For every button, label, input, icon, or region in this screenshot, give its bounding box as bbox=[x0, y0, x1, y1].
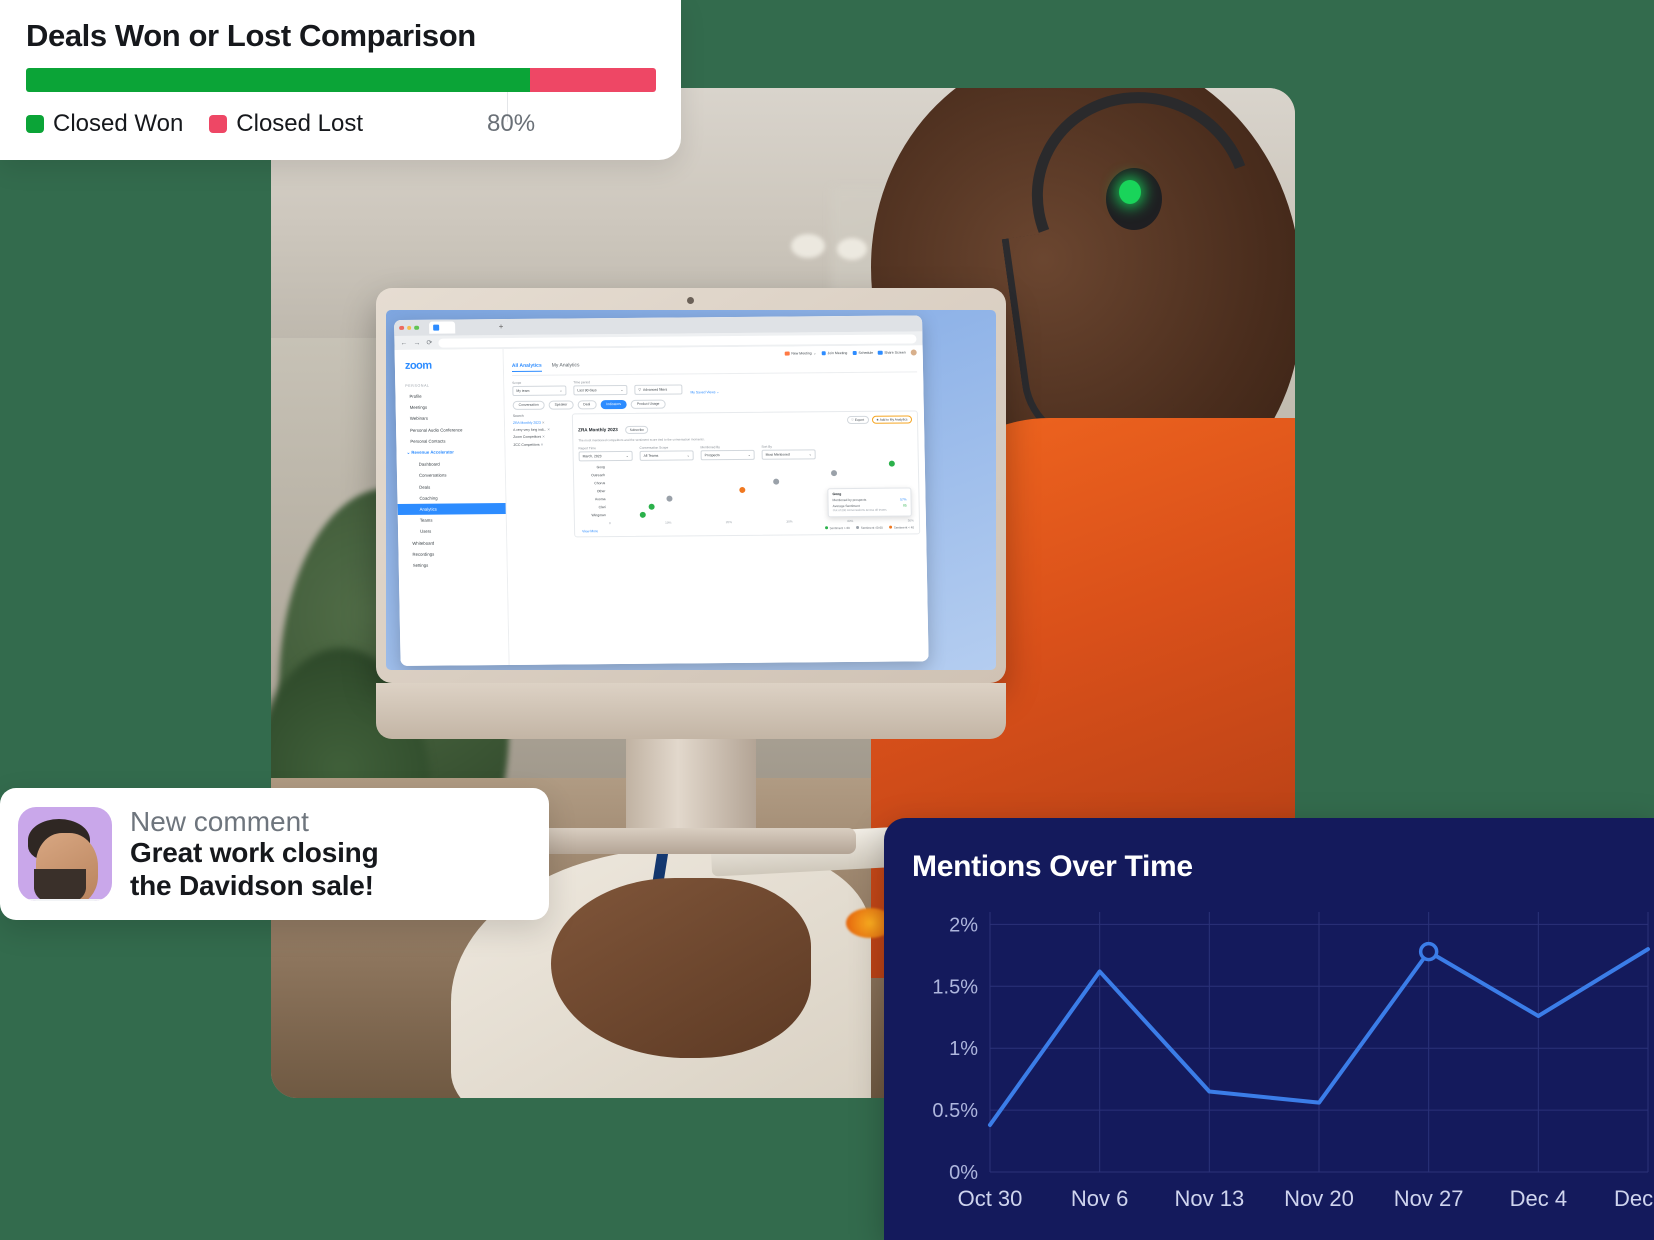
mentions-card-title: Mentions Over Time bbox=[884, 818, 1654, 884]
zoom-logo: zoom bbox=[395, 357, 503, 380]
back-icon[interactable]: ← bbox=[400, 339, 407, 346]
sidebar-item-personal-contacts[interactable]: Personal Contacts bbox=[396, 435, 504, 447]
bar-label: Other bbox=[579, 489, 608, 493]
close-window-icon[interactable] bbox=[399, 326, 404, 331]
monitor-stand-foot bbox=[526, 828, 856, 854]
report-title: ZRA Monthly 2023 bbox=[578, 427, 618, 432]
mentions-line-chart: 0%0.5%1%1.5%2%Oct 30Nov 6Nov 13Nov 20Nov… bbox=[912, 904, 1654, 1224]
tab-my-analytics[interactable]: My Analytics bbox=[552, 362, 580, 371]
deals-comparison-card: Deals Won or Lost Comparison Closed Won … bbox=[0, 0, 681, 160]
closed-won-segment bbox=[26, 68, 530, 92]
y-axis-tick-label: 0% bbox=[949, 1162, 978, 1184]
search-column: Search ZRA Monthly 2023 ✕ A very very lo… bbox=[513, 413, 574, 538]
avatar bbox=[18, 807, 112, 901]
comment-body-line1: Great work closing bbox=[130, 837, 378, 869]
axis-tick: 50% bbox=[908, 518, 914, 522]
sort-by-filter: Sort By Most Mentioned⌄ bbox=[761, 444, 815, 459]
x-axis-tick-label: Nov 27 bbox=[1394, 1186, 1464, 1211]
x-axis-tick-label: Nov 20 bbox=[1284, 1186, 1354, 1211]
chevron-down-icon: ⌄ bbox=[406, 450, 410, 455]
sentiment-neutral-icon bbox=[831, 470, 837, 476]
sidebar-item-recordings[interactable]: Recordings bbox=[398, 548, 506, 560]
close-icon[interactable]: ✕ bbox=[547, 428, 550, 432]
search-chip[interactable]: ZRA Monthly 2023 ✕ bbox=[513, 420, 567, 424]
sidebar-item-coaching[interactable]: Coaching bbox=[397, 492, 505, 504]
conversation-scope-filter: Conversation Scope All Teams⌄ bbox=[639, 445, 693, 460]
search-chip[interactable]: A very very long indi... ✕ bbox=[513, 428, 567, 432]
deals-card-title: Deals Won or Lost Comparison bbox=[0, 0, 681, 54]
closed-lost-swatch bbox=[209, 115, 227, 133]
legend-item: Sentiment > 60 bbox=[825, 526, 850, 530]
time-period-label: Time period bbox=[573, 379, 627, 383]
y-axis-tick-label: 0.5% bbox=[932, 1100, 978, 1122]
comment-body-line2: the Davidson sale! bbox=[130, 870, 378, 902]
x-axis-tick-label: Oct 30 bbox=[958, 1186, 1023, 1211]
x-axis-tick-label: Dec 4 bbox=[1510, 1186, 1567, 1211]
mentioned-by-filter: Mentioned By Prospects⌄ bbox=[700, 445, 754, 460]
new-comment-card[interactable]: New comment Great work closing the David… bbox=[0, 788, 549, 920]
search-label: Search bbox=[513, 413, 567, 417]
legend-item: Sentiment < 40 bbox=[889, 525, 914, 529]
avatar-shirt bbox=[20, 899, 112, 901]
bar-track bbox=[608, 470, 913, 478]
sidebar-item-users[interactable]: Users bbox=[398, 525, 506, 537]
y-axis-tick-label: 2% bbox=[949, 914, 978, 936]
y-axis-tick-label: 1% bbox=[949, 1038, 978, 1060]
chevron-down-icon: ⌄ bbox=[748, 453, 751, 457]
comment-kicker: New comment bbox=[130, 806, 378, 837]
sidebar-group-label: Revenue Accelerator bbox=[411, 450, 454, 455]
new-meeting-button[interactable]: New Meeting ⌄ bbox=[785, 351, 816, 356]
bar-label: Wingman bbox=[580, 513, 609, 517]
sentiment-neutral-icon bbox=[773, 478, 779, 484]
sidebar-item-deals[interactable]: Deals bbox=[397, 481, 505, 493]
x-axis-tick-label: Dec 11 bbox=[1614, 1186, 1654, 1211]
sidebar-item-teams[interactable]: Teams bbox=[398, 514, 506, 526]
saved-views-dropdown[interactable]: My Saved Views ⌄ bbox=[690, 390, 719, 394]
chevron-down-icon: ⌄ bbox=[559, 388, 562, 392]
report-time-filter: Report Time March, 2023⌄ bbox=[578, 446, 632, 461]
bar-track bbox=[608, 478, 913, 486]
subscribe-button[interactable]: Subscribe bbox=[625, 425, 648, 433]
report-time-select[interactable]: March, 2023⌄ bbox=[579, 451, 633, 461]
time-period-filter: Time period Last 90 days ⌄ bbox=[573, 379, 627, 394]
chevron-down-icon: ⌄ bbox=[626, 454, 629, 458]
mentions-over-time-card: Mentions Over Time 0%0.5%1%1.5%2%Oct 30N… bbox=[884, 818, 1654, 1240]
zoom-favicon bbox=[433, 325, 439, 331]
pill-speaker[interactable]: Speaker bbox=[549, 400, 574, 409]
sidebar-item-settings[interactable]: Settings bbox=[399, 559, 507, 571]
close-icon[interactable]: ✕ bbox=[541, 443, 544, 447]
sort-by-select[interactable]: Most Mentioned⌄ bbox=[762, 449, 816, 459]
closed-lost-segment bbox=[530, 68, 656, 92]
bar-chart-x-axis: 0 10% 20% 30% 40% 50% bbox=[609, 518, 914, 525]
axis-tick: 0 bbox=[609, 521, 611, 525]
data-point-marker bbox=[1421, 944, 1437, 960]
chevron-down-icon: ⌄ bbox=[687, 453, 690, 457]
chevron-down-icon: ⌄ bbox=[716, 390, 719, 394]
close-icon[interactable]: ✕ bbox=[542, 420, 545, 424]
calendar-icon bbox=[852, 351, 857, 356]
scope-label: Scope bbox=[512, 380, 566, 384]
conversation-scope-label: Conversation Scope bbox=[639, 445, 693, 449]
bar-tooltip: Gong Mentioned by prospects 57% Average … bbox=[827, 488, 912, 518]
sidebar-item-dashboard[interactable]: Dashboard bbox=[397, 458, 505, 470]
deals-percentage-label: 80% bbox=[487, 110, 535, 138]
bar-label: Gong bbox=[579, 465, 608, 469]
x-axis-tick-label: Nov 6 bbox=[1071, 1186, 1128, 1211]
sidebar-item-analytics[interactable]: Analytics bbox=[398, 503, 506, 515]
deals-progress-bar bbox=[26, 68, 656, 92]
share-screen-button[interactable]: Share Screen bbox=[878, 350, 906, 355]
bar-label: Clari bbox=[580, 505, 609, 509]
legend-label: Closed Lost bbox=[236, 110, 363, 138]
add-to-my-analytics-button[interactable]: ★ Add to My Analytics bbox=[872, 415, 913, 424]
page-background: + ← → ⟳ zoom PERSONAL bbox=[0, 0, 1654, 1240]
ceiling-light-icon bbox=[837, 238, 867, 260]
bar-label: Avoma bbox=[579, 497, 608, 501]
deals-legend: Closed Won Closed Lost bbox=[26, 110, 363, 138]
pill-conversation[interactable]: Conversation bbox=[513, 400, 545, 409]
report-description: The most mentioned competitors and the s… bbox=[578, 436, 912, 443]
view-more-link[interactable]: View More bbox=[582, 529, 598, 533]
chevron-down-icon: ⌄ bbox=[813, 351, 816, 355]
schedule-button[interactable]: Schedule bbox=[852, 351, 873, 356]
axis-tick: 30% bbox=[786, 519, 792, 523]
sentiment-positive-icon bbox=[648, 504, 654, 510]
mentioned-by-select[interactable]: Prospects⌄ bbox=[701, 450, 755, 460]
sentiment-positive-icon bbox=[888, 461, 894, 467]
monitor-chin bbox=[376, 683, 1006, 739]
sidebar-item-conversations[interactable]: Conversations bbox=[397, 469, 505, 481]
tooltip-title: Gong bbox=[832, 492, 906, 497]
sidebar-item-meetings[interactable]: Meetings bbox=[396, 401, 504, 413]
legend-closed-lost: Closed Lost bbox=[209, 110, 363, 138]
headset-led-indicator bbox=[1119, 180, 1141, 204]
new-tab-button[interactable]: + bbox=[499, 322, 504, 332]
avatar-beard bbox=[34, 869, 86, 901]
video-icon bbox=[785, 351, 790, 356]
report-actions: ♡ Export ★ Add to My Analytics bbox=[847, 415, 913, 424]
filter-icon: ▽ bbox=[638, 387, 641, 391]
sort-by-label: Sort By bbox=[761, 444, 815, 448]
bar-track bbox=[608, 462, 913, 470]
close-icon[interactable]: ✕ bbox=[542, 435, 545, 439]
closed-won-swatch bbox=[26, 115, 44, 133]
chevron-down-icon: ⌄ bbox=[620, 387, 623, 391]
legend-label: Closed Won bbox=[53, 110, 183, 138]
monitor-screen: + ← → ⟳ zoom PERSONAL bbox=[386, 310, 996, 670]
scope-filter: Scope My team ⌄ bbox=[512, 380, 566, 395]
axis-tick: 40% bbox=[847, 519, 853, 523]
mentions-chart: 0%0.5%1%1.5%2%Oct 30Nov 6Nov 13Nov 20Nov… bbox=[912, 904, 1654, 1240]
analytics-tabs: All Analytics My Analytics bbox=[512, 359, 917, 375]
chevron-down-icon: ⌄ bbox=[809, 452, 812, 456]
minimize-window-icon[interactable] bbox=[407, 326, 412, 331]
bar-label: Chorus bbox=[579, 481, 608, 485]
search-chip[interactable]: ZCC Competitors ✕ bbox=[513, 442, 567, 446]
sentiment-negative-icon bbox=[739, 487, 745, 493]
tooltip-note: Out of 200 conversations across all team… bbox=[833, 509, 907, 514]
category-pills: Conversation Speaker Deal Indicators Pro… bbox=[513, 397, 918, 410]
webcam-icon bbox=[687, 297, 694, 304]
pill-indicators[interactable]: Indicators bbox=[600, 399, 627, 408]
search-chip[interactable]: Zoom Competitors ✕ bbox=[513, 435, 567, 439]
scope-select[interactable]: My team ⌄ bbox=[512, 385, 566, 395]
advanced-filters-button[interactable]: ▽ Advanced filters bbox=[634, 384, 682, 394]
share-icon bbox=[878, 350, 883, 355]
report-card: ♡ Export ★ Add to My Analytics ZRA bbox=[572, 410, 920, 537]
ceiling-light-icon bbox=[791, 234, 825, 258]
sidebar-item-personal-audio-conference[interactable]: Personal Audio Conference bbox=[396, 424, 504, 436]
zoom-sidebar: zoom PERSONAL Profile Meetings Webinars … bbox=[395, 349, 510, 666]
report-time-label: Report Time bbox=[578, 446, 632, 450]
avatar[interactable] bbox=[911, 349, 917, 355]
axis-tick: 10% bbox=[665, 520, 671, 524]
join-meeting-button[interactable]: Join Meeting bbox=[821, 351, 847, 356]
pill-deal[interactable]: Deal bbox=[577, 400, 596, 409]
sentiment-positive-icon bbox=[639, 512, 645, 518]
sidebar-item-whiteboard[interactable]: Whiteboard bbox=[398, 536, 506, 548]
x-axis-tick-label: Nov 13 bbox=[1174, 1186, 1244, 1211]
pill-product-usage[interactable]: Product Usage bbox=[631, 399, 666, 408]
bar-row: Gong bbox=[579, 462, 913, 470]
sentiment-legend: Sentiment > 60 Sentiment 40-60 Sentiment… bbox=[580, 525, 914, 532]
y-axis-tick-label: 1.5% bbox=[932, 976, 978, 998]
maximize-window-icon[interactable] bbox=[414, 326, 419, 331]
sidebar-item-webinars[interactable]: Webinars bbox=[396, 412, 504, 424]
mentioned-by-label: Mentioned By bbox=[700, 445, 754, 449]
conversation-scope-select[interactable]: All Teams⌄ bbox=[640, 450, 694, 460]
browser-tab[interactable] bbox=[429, 321, 455, 333]
tooltip-row: Mentioned by prospects 57% bbox=[833, 498, 907, 503]
plus-square-icon bbox=[821, 351, 826, 356]
legend-closed-won: Closed Won bbox=[26, 110, 183, 138]
monitor-stand-neck bbox=[626, 739, 756, 835]
sidebar-group-revenue-accelerator[interactable]: ⌄ Revenue Accelerator bbox=[396, 446, 504, 459]
comment-text: New comment Great work closing the David… bbox=[130, 806, 378, 902]
time-period-select[interactable]: Last 90 days ⌄ bbox=[573, 384, 627, 394]
browser-window: + ← → ⟳ zoom PERSONAL bbox=[394, 315, 929, 666]
tab-all-analytics[interactable]: All Analytics bbox=[512, 363, 542, 372]
zoom-main-content: New Meeting ⌄ Join Meeting Schedule bbox=[504, 345, 929, 665]
forward-icon[interactable]: → bbox=[413, 339, 420, 346]
export-button[interactable]: ♡ Export bbox=[847, 416, 869, 425]
bar-row: Outreach bbox=[579, 470, 913, 478]
legend-item: Sentiment 40-60 bbox=[856, 525, 883, 529]
zoom-web-app: zoom PERSONAL Profile Meetings Webinars … bbox=[395, 345, 929, 666]
bar-label: Outreach bbox=[579, 473, 608, 477]
reload-icon[interactable]: ⟳ bbox=[426, 339, 432, 347]
export-icon: ♡ bbox=[851, 418, 854, 422]
sentiment-neutral-icon bbox=[666, 495, 672, 501]
bar-row: Chorus bbox=[579, 478, 913, 486]
competitor-mentions-bar-chart: Gong Outreach bbox=[579, 462, 914, 526]
star-icon: ★ bbox=[876, 418, 879, 422]
axis-tick: 20% bbox=[726, 520, 732, 524]
sidebar-item-profile[interactable]: Profile bbox=[395, 390, 503, 402]
zoom-top-toolbar: New Meeting ⌄ Join Meeting Schedule bbox=[512, 349, 917, 359]
